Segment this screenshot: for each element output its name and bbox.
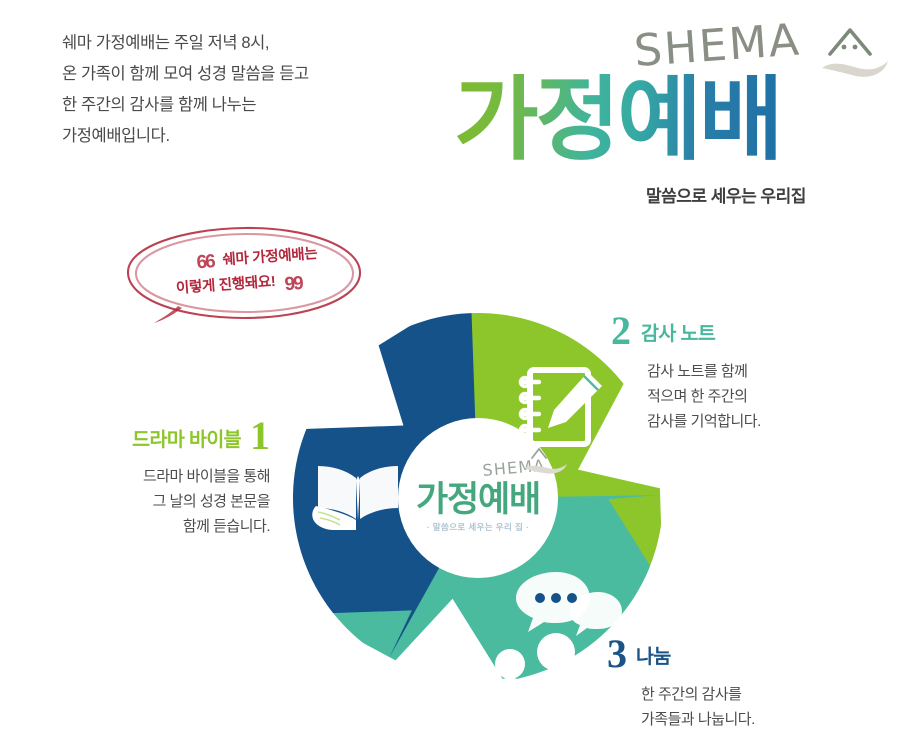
- step-1-desc-line-2: 그 날의 성경 본문을: [153, 493, 270, 510]
- step-3-description: 한 주간의 감사를 가족들과 나눕니다.: [641, 682, 822, 732]
- intro-line-1: 는 주일 저녁 8시,: [155, 34, 269, 52]
- step-2-block: 2 감사 노트 감사 노트를 함께 적으며 한 주간의 감사를 기억합니다.: [611, 313, 826, 434]
- intro-lead: 쉐마 가정예배: [62, 34, 155, 52]
- center-wordmark: 가정예배: [416, 480, 540, 519]
- step-3-number: 3: [607, 636, 627, 673]
- step-1-desc-line-3: 함께 듣습니다.: [183, 518, 270, 535]
- step-2-title: 감사 노트: [641, 317, 715, 346]
- house-hand-icon: [820, 24, 890, 80]
- step-1-title: 드라마 바이블: [132, 423, 241, 452]
- step-2-number: 2: [611, 313, 631, 350]
- infographic-canvas: 쉐마 가정예배는 주일 저녁 8시, 온 가족이 함께 모여 성경 말씀을 듣고…: [0, 0, 903, 751]
- logo-tagline: 말씀으로 세우는 우리집: [646, 182, 806, 207]
- step-2-description: 감사 노트를 함께 적으며 한 주간의 감사를 기억합니다.: [647, 359, 826, 434]
- intro-paragraph: 쉐마 가정예배는 주일 저녁 8시, 온 가족이 함께 모여 성경 말씀을 듣고…: [62, 28, 442, 152]
- step-1-description: 드라마 바이블을 통해 그 날의 성경 본문을 함께 듣습니다.: [58, 464, 270, 539]
- bubble-line-1-text: 쉐마 가정예배는: [222, 245, 318, 268]
- quote-open-icon: 66: [196, 251, 215, 273]
- logo-wordmark: 가정예배: [454, 74, 781, 166]
- step-3-desc-line-2: 가족들과 나눕니다.: [641, 711, 755, 728]
- center-tagline: · 말씀으로 세우는 우리 집 ·: [427, 522, 529, 532]
- step-2-desc-line-2: 적으며 한 주간의: [647, 388, 747, 405]
- step-3-desc-line-1: 한 주간의 감사를: [641, 686, 741, 703]
- intro-line-3: 한 주간의 감사를 함께 나누는: [62, 96, 256, 114]
- step-2-heading: 2 감사 노트: [611, 313, 826, 350]
- step-3-heading: 3 나눔: [607, 636, 822, 673]
- step-1-heading: 드라마 바이블 1: [58, 418, 270, 455]
- shema-family-worship-logo: SHEMA 가정예배 말씀으로 세우는 우리집: [440, 22, 870, 212]
- intro-line-4: 가정예배입니다.: [62, 127, 170, 145]
- step-2-desc-line-1: 감사 노트를 함께: [647, 363, 747, 380]
- step-2-desc-line-3: 감사를 기억합니다.: [647, 413, 761, 430]
- step-1-block: 드라마 바이블 1 드라마 바이블을 통해 그 날의 성경 본문을 함께 듣습니…: [58, 418, 270, 539]
- intro-line-2: 온 가족이 함께 모여 성경 말씀을 듣고: [62, 65, 309, 83]
- step-3-title: 나눔: [636, 640, 671, 669]
- step-1-number: 1: [250, 418, 270, 455]
- quote-close-icon: 99: [284, 273, 303, 295]
- bubble-line-2-text: 이렇게 진행돼요!: [176, 273, 276, 296]
- step-3-block: 3 나눔 한 주간의 감사를 가족들과 나눕니다.: [607, 636, 822, 732]
- step-1-desc-line-1: 드라마 바이블을 통해: [143, 468, 270, 485]
- shema-text: SHEMA: [632, 14, 802, 77]
